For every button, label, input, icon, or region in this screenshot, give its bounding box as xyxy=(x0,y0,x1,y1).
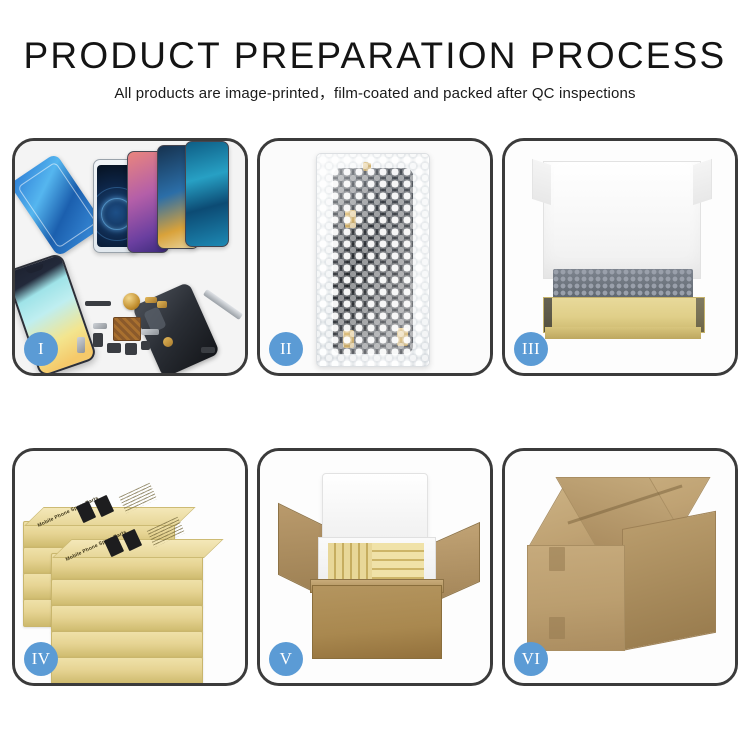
step-badge-3: III xyxy=(514,332,548,366)
component-dark-3 xyxy=(125,343,137,355)
process-step-grid: I II xyxy=(12,138,738,738)
stacked-box-f3 xyxy=(51,605,203,633)
step-badge-6: VI xyxy=(514,642,548,676)
component-gold-2 xyxy=(157,301,167,308)
carton-tape-upper xyxy=(549,547,565,571)
component-dark-4 xyxy=(141,341,150,350)
stacked-box-f5 xyxy=(51,657,203,683)
component-camera-ring xyxy=(163,337,173,347)
component-dark-5 xyxy=(201,347,215,353)
process-step-panel-5: V xyxy=(257,448,493,686)
process-step-panel-4: Mobile Phone Spare Parts Mobile Phone Sp… xyxy=(12,448,248,686)
white-foam-lid-icon xyxy=(543,161,701,279)
process-step-panel-1: I xyxy=(12,138,248,376)
carton-body-icon xyxy=(312,585,442,659)
product-preparation-process-infographic: PRODUCT PREPARATION PROCESS All products… xyxy=(0,0,750,750)
step-badge-2: II xyxy=(269,332,303,366)
component-sim-tray xyxy=(77,337,85,353)
step-badge-4: IV xyxy=(24,642,58,676)
kraft-box-front-edge xyxy=(545,327,701,339)
component-flex-cable xyxy=(141,329,159,335)
page-title: PRODUCT PREPARATION PROCESS xyxy=(0,36,750,76)
grey-foam-padding-icon xyxy=(553,269,693,299)
process-step-panel-2: II xyxy=(257,138,493,376)
carton-tape-lower xyxy=(549,617,565,639)
packed-retail-boxes-icon xyxy=(328,543,424,583)
component-bar-1 xyxy=(85,301,111,306)
logic-board-icon xyxy=(113,317,141,341)
stacked-box-f4 xyxy=(51,631,203,659)
speaker-module-icon xyxy=(123,293,140,310)
stacked-box-f2 xyxy=(51,579,203,607)
carton-front-face xyxy=(527,545,625,651)
process-step-panel-6: VI xyxy=(502,448,738,686)
plastic-sheen-overlay xyxy=(317,154,429,366)
carton-side-face-right xyxy=(622,511,716,651)
foam-lid-icon xyxy=(322,473,428,543)
step-badge-1: I xyxy=(24,332,58,366)
bubble-wrap-bag-icon xyxy=(316,153,430,367)
step-badge-5: V xyxy=(269,642,303,676)
phone-teal-icon xyxy=(185,141,229,247)
process-step-panel-3: III xyxy=(502,138,738,376)
component-dark-1 xyxy=(93,333,103,347)
header: PRODUCT PREPARATION PROCESS All products… xyxy=(0,0,750,103)
component-dark-2 xyxy=(107,343,121,353)
kraft-box-stack-icon: Mobile Phone Spare Parts Mobile Phone Sp… xyxy=(21,475,245,671)
page-subtitle: All products are image-printed，film-coat… xyxy=(0,85,750,103)
component-gold-1 xyxy=(145,297,157,303)
component-silver-1 xyxy=(93,323,107,329)
